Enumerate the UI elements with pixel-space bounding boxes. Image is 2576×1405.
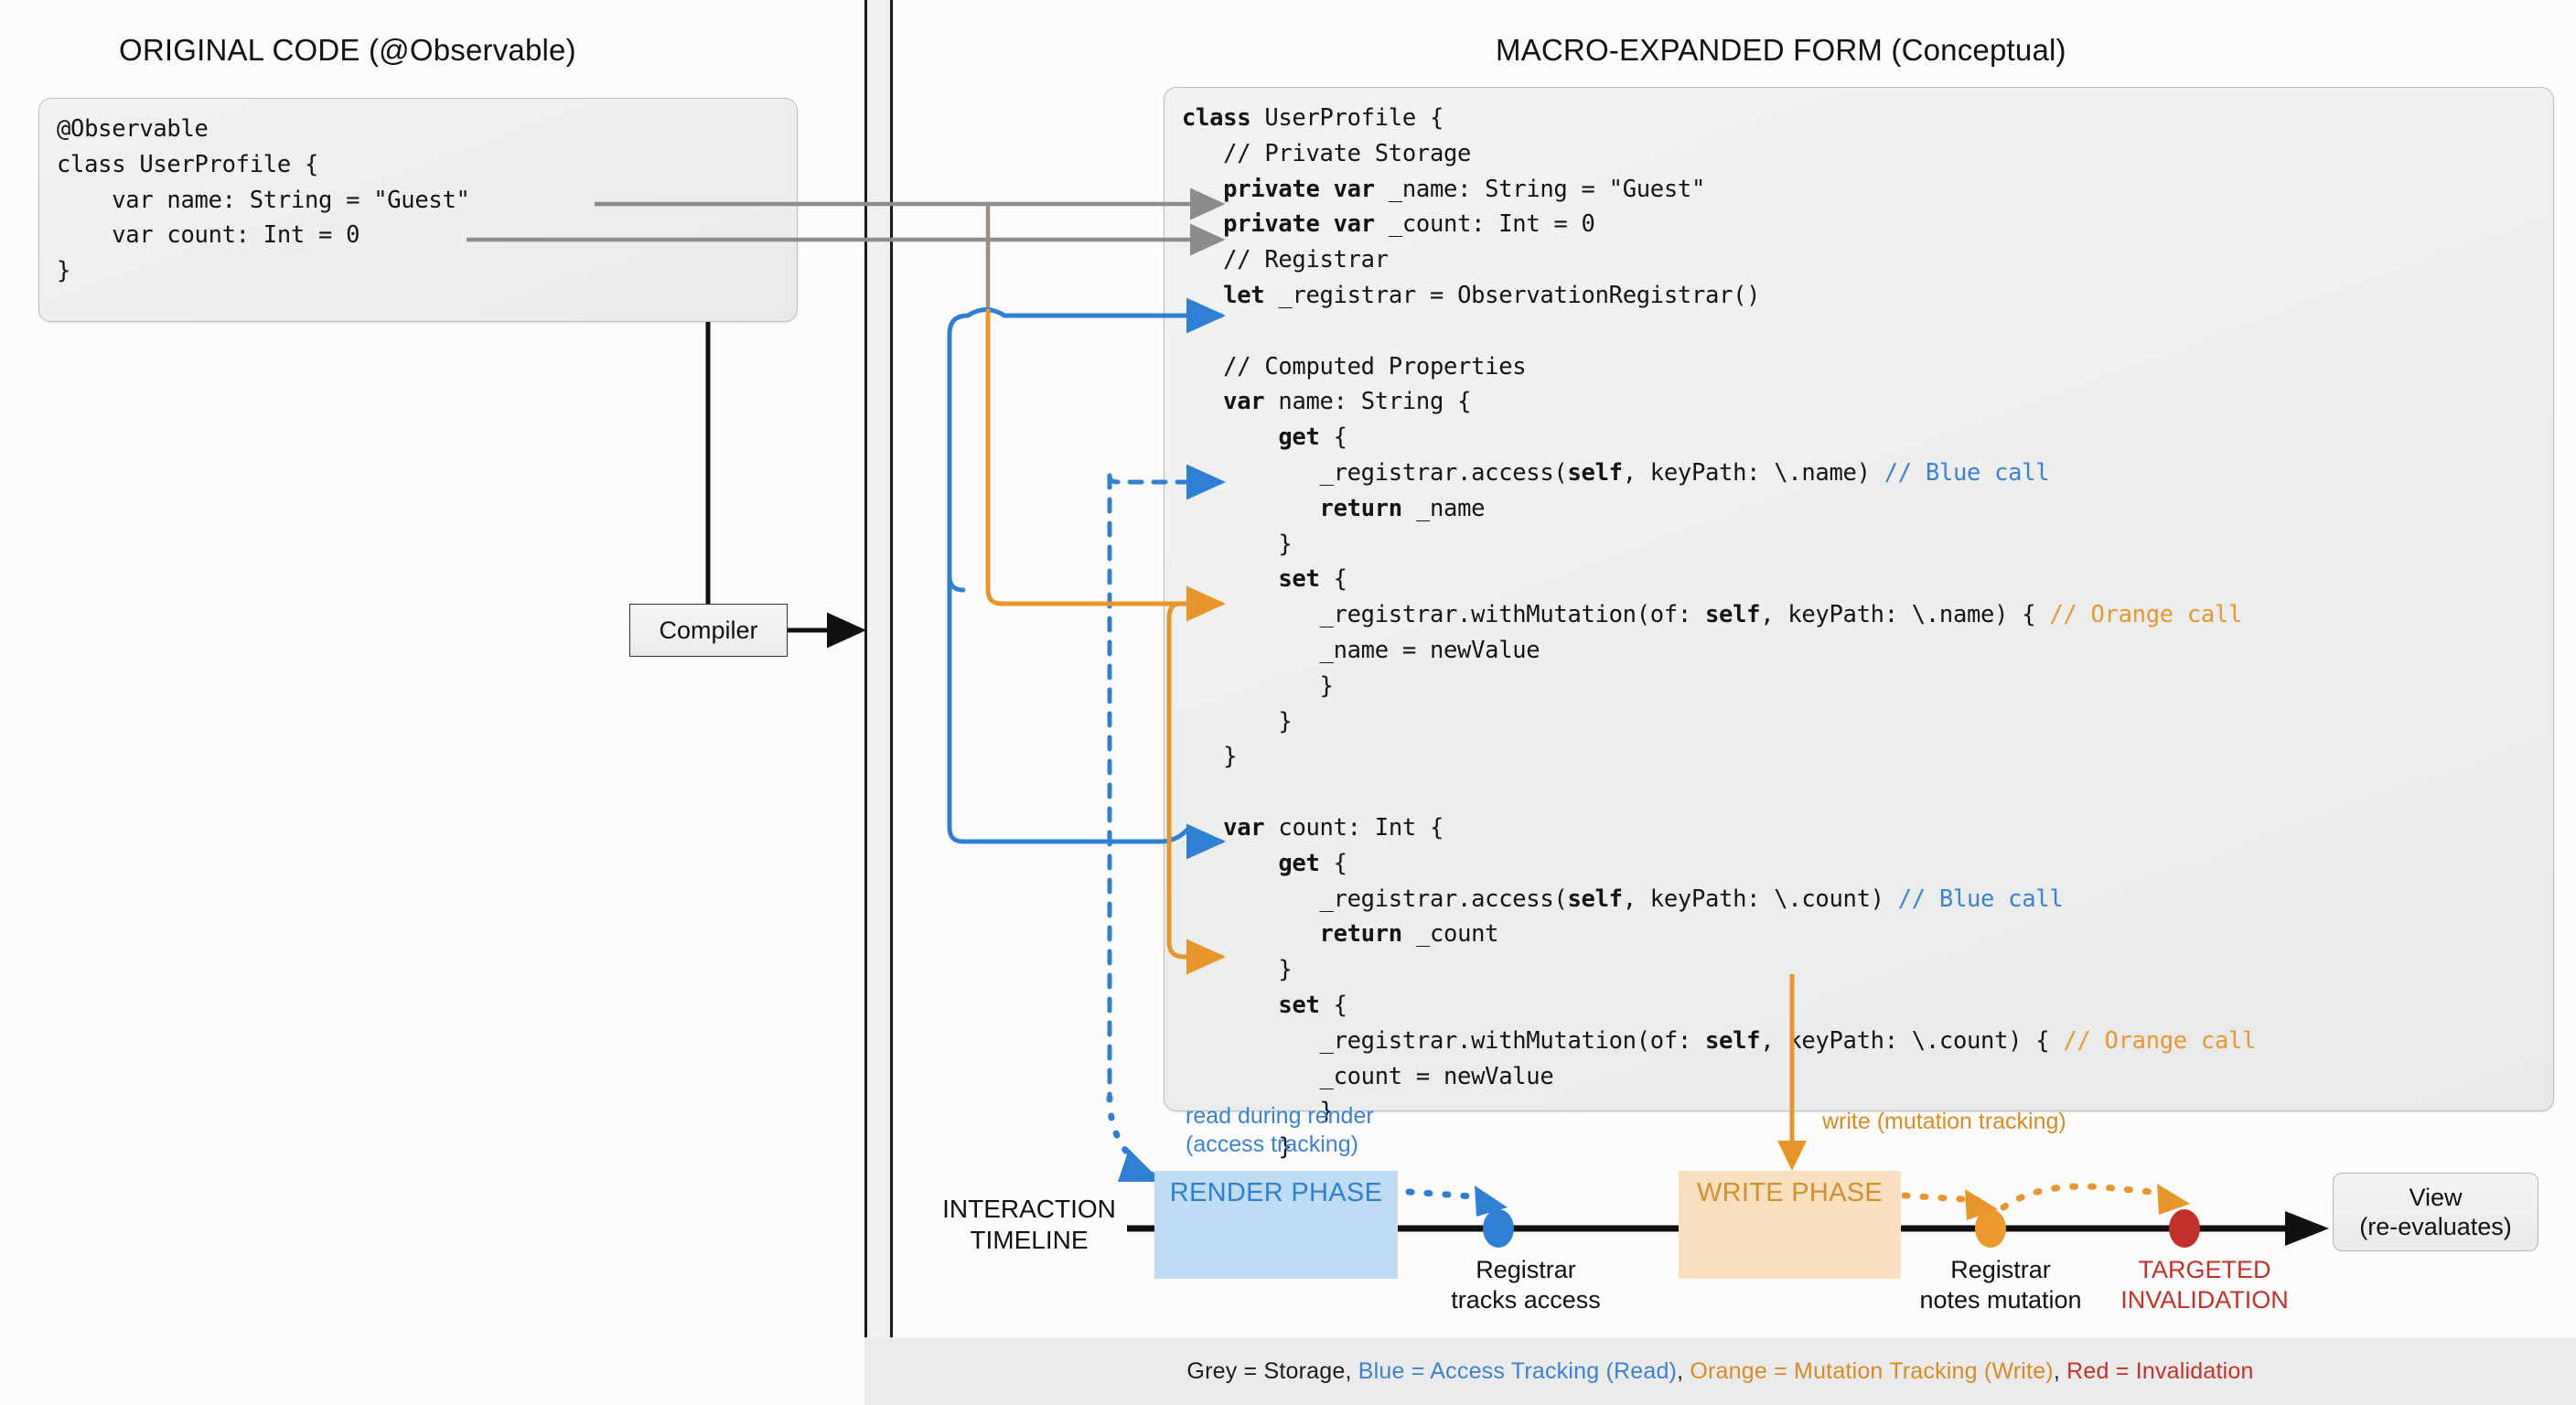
label-notes-line2: notes mutation [1886, 1285, 2115, 1315]
panel-title-macro-expanded: MACRO-EXPANDED FORM (Conceptual) [1496, 33, 2066, 68]
legend-bar: Grey = Storage , Blue = Access Tracking … [864, 1337, 2576, 1405]
legend-sep-1: , [1345, 1358, 1358, 1385]
compiler-box[interactable]: Compiler [629, 604, 788, 657]
legend-grey: Grey = Storage [1186, 1358, 1345, 1385]
panel-title-original-code: ORIGINAL CODE (@Observable) [119, 33, 576, 68]
label-invalid-line2: INVALIDATION [2095, 1285, 2314, 1315]
view-label-line2: (re-evaluates) [2359, 1212, 2512, 1241]
write-phase-block: WRITE PHASE [1679, 1171, 1901, 1279]
label-targeted-invalidation: TARGETED INVALIDATION [2095, 1255, 2314, 1315]
annotation-read-line1: read during render [1186, 1102, 1374, 1131]
view-box: View (re-evaluates) [2333, 1173, 2538, 1251]
annotation-read-during-render: read during render (access tracking) [1186, 1102, 1374, 1159]
label-tracks-line2: tracks access [1425, 1285, 1626, 1315]
wire-compiler [708, 322, 860, 630]
legend-orange: Orange = Mutation Tracking (Write) [1690, 1358, 2053, 1385]
write-phase-label: WRITE PHASE [1697, 1178, 1883, 1208]
legend-red: Red = Invalidation [2066, 1358, 2253, 1385]
annotation-read-line2: (access tracking) [1186, 1131, 1374, 1159]
compiler-label: Compiler [659, 617, 757, 645]
legend-sep-3: , [2054, 1358, 2066, 1385]
timeline-caption: INTERACTION TIMELINE [933, 1194, 1125, 1256]
timeline-caption-line2: TIMELINE [933, 1225, 1125, 1256]
wire-blue-to-render [1110, 1098, 1153, 1175]
label-invalid-line1: TARGETED [2095, 1255, 2314, 1285]
arrowhead-timeline-end [2285, 1211, 2329, 1246]
macro-expanded-code-text: class UserProfile { // Private Storage p… [1182, 101, 2256, 1237]
panel-divider [864, 0, 893, 1405]
label-registrar-tracks-access: Registrar tracks access [1425, 1255, 1626, 1315]
render-phase-label: RENDER PHASE [1170, 1178, 1382, 1208]
timeline-caption-line1: INTERACTION [933, 1194, 1125, 1225]
original-code-text: @Observable class UserProfile { var name… [57, 112, 470, 289]
label-registrar-notes-mutation: Registrar notes mutation [1886, 1255, 2115, 1315]
legend-blue: Blue = Access Tracking (Read) [1358, 1358, 1677, 1385]
legend-sep-2: , [1677, 1358, 1690, 1385]
view-label-line1: View [2409, 1183, 2462, 1212]
label-notes-line1: Registrar [1886, 1255, 2115, 1285]
diagram-canvas: ORIGINAL CODE (@Observable) MACRO-EXPAND… [0, 0, 2576, 1405]
label-tracks-line1: Registrar [1425, 1255, 1626, 1285]
annotation-write-mutation-tracking: write (mutation tracking) [1822, 1108, 2066, 1136]
render-phase-block: RENDER PHASE [1154, 1171, 1398, 1279]
